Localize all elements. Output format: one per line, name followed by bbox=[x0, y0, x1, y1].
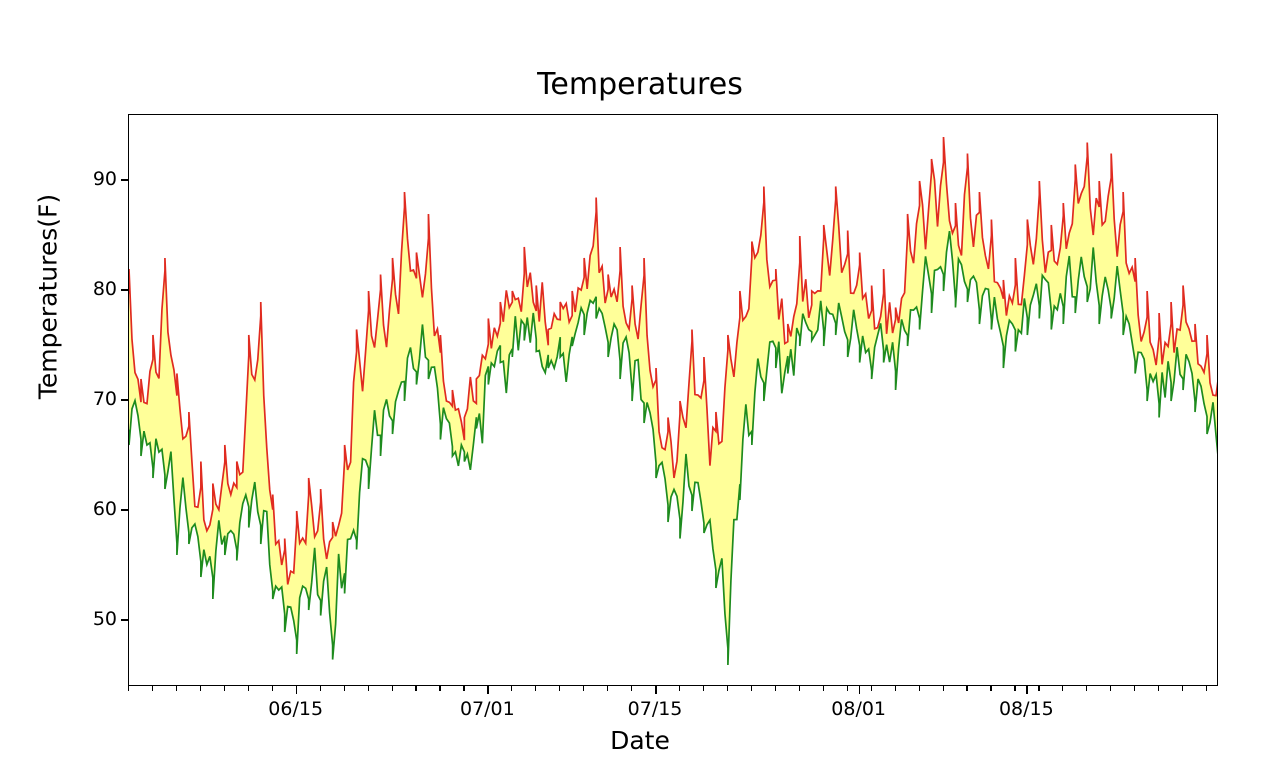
x-tick-major bbox=[859, 686, 861, 694]
x-tick-minor bbox=[607, 686, 608, 691]
x-tick-minor bbox=[176, 686, 177, 691]
x-tick-minor bbox=[272, 686, 273, 691]
x-tick-minor bbox=[128, 686, 129, 691]
x-tick-minor bbox=[559, 686, 560, 691]
high-temperature-line bbox=[129, 137, 1218, 585]
y-tick-label: 70 bbox=[57, 388, 117, 410]
x-tick-minor bbox=[248, 686, 249, 691]
x-tick-minor bbox=[751, 686, 752, 691]
y-tick-label: 60 bbox=[57, 498, 117, 520]
x-tick-label: 08/15 bbox=[966, 698, 1086, 720]
plot-svg bbox=[129, 115, 1218, 686]
x-tick-minor bbox=[895, 686, 896, 691]
y-tick-mark bbox=[121, 179, 128, 181]
y-tick-mark bbox=[121, 509, 128, 511]
x-tick-label: 06/15 bbox=[236, 698, 356, 720]
x-tick-minor bbox=[1110, 686, 1111, 691]
x-tick-minor bbox=[1062, 686, 1063, 691]
x-tick-major bbox=[296, 686, 298, 694]
x-tick-minor bbox=[799, 686, 800, 691]
x-tick-minor bbox=[990, 686, 991, 691]
temperature-range-fill bbox=[129, 137, 1218, 665]
y-tick-mark bbox=[121, 619, 128, 621]
x-tick-minor bbox=[943, 686, 944, 691]
x-tick-minor bbox=[1134, 686, 1135, 691]
x-tick-minor bbox=[320, 686, 321, 691]
x-tick-minor bbox=[823, 686, 824, 691]
x-tick-minor bbox=[871, 686, 872, 691]
y-tick-label: 80 bbox=[57, 278, 117, 300]
x-tick-minor bbox=[535, 686, 536, 691]
y-tick-mark bbox=[121, 399, 128, 401]
x-tick-minor bbox=[847, 686, 848, 691]
x-tick-minor bbox=[439, 686, 440, 691]
y-tick-label: 90 bbox=[57, 168, 117, 190]
x-tick-minor bbox=[392, 686, 393, 691]
x-tick-minor bbox=[583, 686, 584, 691]
plot-area bbox=[128, 114, 1218, 686]
y-tick-label: 50 bbox=[57, 608, 117, 630]
x-tick-minor bbox=[1182, 686, 1183, 691]
x-tick-minor bbox=[727, 686, 728, 691]
temperature-chart-figure: Temperatures Temperatures(F) 5060708090 … bbox=[0, 0, 1280, 768]
x-tick-minor bbox=[511, 686, 512, 691]
x-tick-minor bbox=[463, 686, 464, 691]
chart-title: Temperatures bbox=[0, 68, 1280, 102]
y-tick-mark bbox=[121, 289, 128, 291]
x-tick-minor bbox=[1158, 686, 1159, 691]
x-tick-minor bbox=[415, 686, 416, 691]
x-tick-minor bbox=[344, 686, 345, 691]
x-tick-minor bbox=[703, 686, 704, 691]
x-tick-minor bbox=[919, 686, 920, 691]
x-tick-minor bbox=[631, 686, 632, 691]
x-tick-minor bbox=[679, 686, 680, 691]
x-tick-major bbox=[1026, 686, 1028, 694]
x-tick-minor bbox=[966, 686, 967, 691]
x-tick-major bbox=[655, 686, 657, 694]
x-tick-minor bbox=[368, 686, 369, 691]
x-tick-minor bbox=[775, 686, 776, 691]
x-tick-minor bbox=[152, 686, 153, 691]
x-tick-label: 07/01 bbox=[427, 698, 547, 720]
x-tick-label: 08/01 bbox=[799, 698, 919, 720]
x-tick-major bbox=[487, 686, 489, 694]
x-tick-minor bbox=[224, 686, 225, 691]
x-tick-label: 07/15 bbox=[595, 698, 715, 720]
x-tick-minor bbox=[1206, 686, 1207, 691]
x-tick-minor bbox=[200, 686, 201, 691]
x-tick-minor bbox=[1086, 686, 1087, 691]
x-tick-minor bbox=[1038, 686, 1039, 691]
x-axis-label: Date bbox=[0, 726, 1280, 755]
x-tick-minor bbox=[1014, 686, 1015, 691]
